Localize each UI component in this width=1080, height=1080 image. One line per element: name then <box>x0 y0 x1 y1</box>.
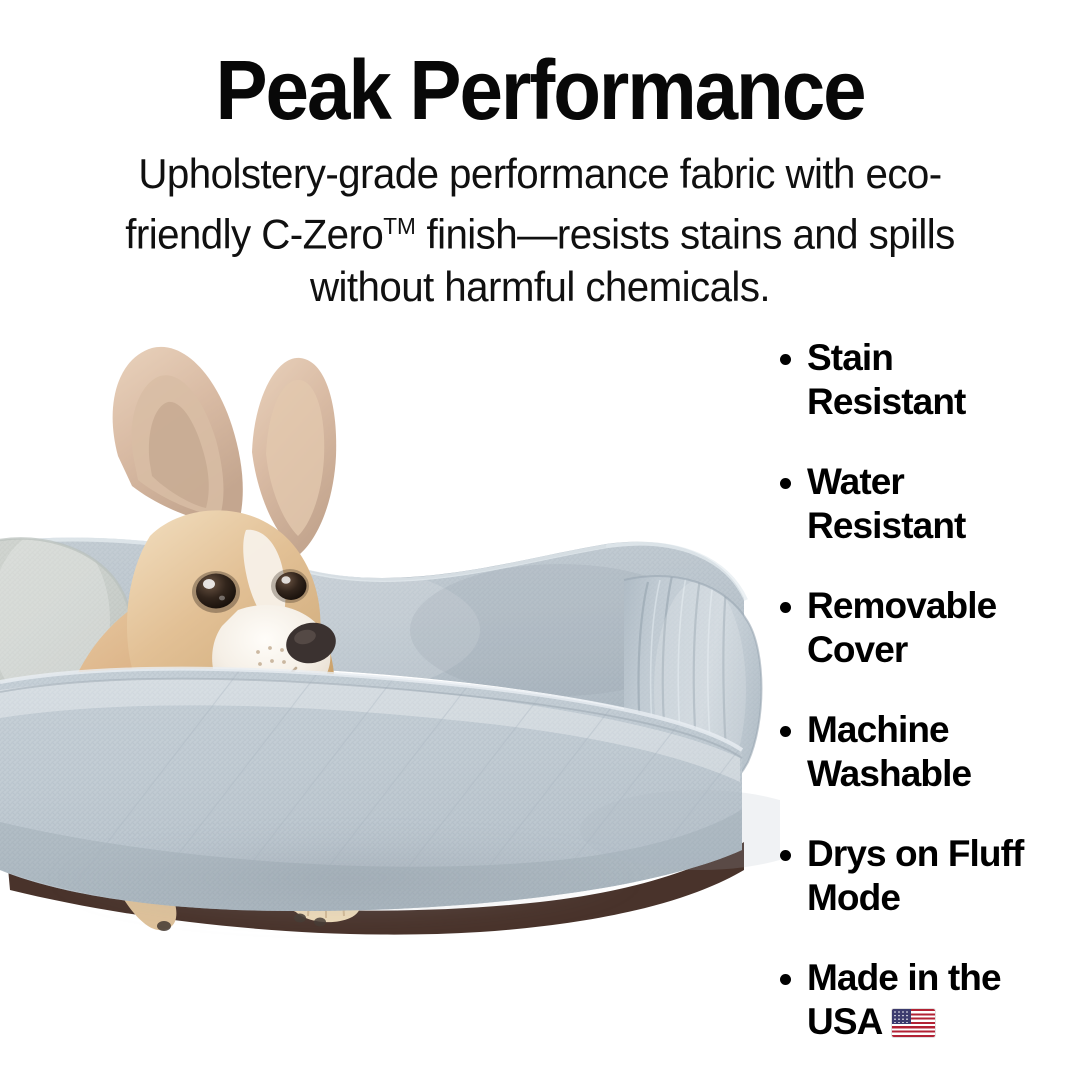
page-title: Peak Performance <box>38 44 1042 136</box>
feature-list: Stain Resistant Water Resistant Removabl… <box>780 336 1080 1044</box>
feature-label: Water Resistant <box>807 460 1059 548</box>
feature-label: Machine Washable <box>807 708 1059 796</box>
subheadline: Upholstery-grade performance fabric with… <box>104 148 976 313</box>
bullet-icon <box>780 354 791 365</box>
feature-label: Drys on Fluff Mode <box>807 832 1059 920</box>
list-item: Drys on Fluff Mode <box>780 832 1080 920</box>
bullet-icon <box>780 850 791 861</box>
bullet-icon <box>780 974 791 985</box>
dog-left-eye <box>192 571 240 613</box>
feature-label-with-flag: Made in the USA <box>807 956 1059 1044</box>
list-item: Removable Cover <box>780 584 1080 672</box>
us-flag-icon <box>892 1009 935 1037</box>
product-photo-dog-in-bed <box>0 330 780 950</box>
list-item: Machine Washable <box>780 708 1080 796</box>
feature-label: Stain Resistant <box>807 336 1059 424</box>
list-item: Made in the USA <box>780 956 1080 1044</box>
trademark-symbol: TM <box>383 213 416 239</box>
bullet-icon <box>780 726 791 737</box>
list-item: Stain Resistant <box>780 336 1080 424</box>
feature-label: Removable Cover <box>807 584 1059 672</box>
bullet-icon <box>780 602 791 613</box>
list-item: Water Resistant <box>780 460 1080 548</box>
photo-drop-shadow <box>0 830 780 950</box>
bullet-icon <box>780 478 791 489</box>
dog-right-eye <box>271 569 309 603</box>
infographic-canvas: Peak Performance Upholstery-grade perfor… <box>0 0 1080 1080</box>
